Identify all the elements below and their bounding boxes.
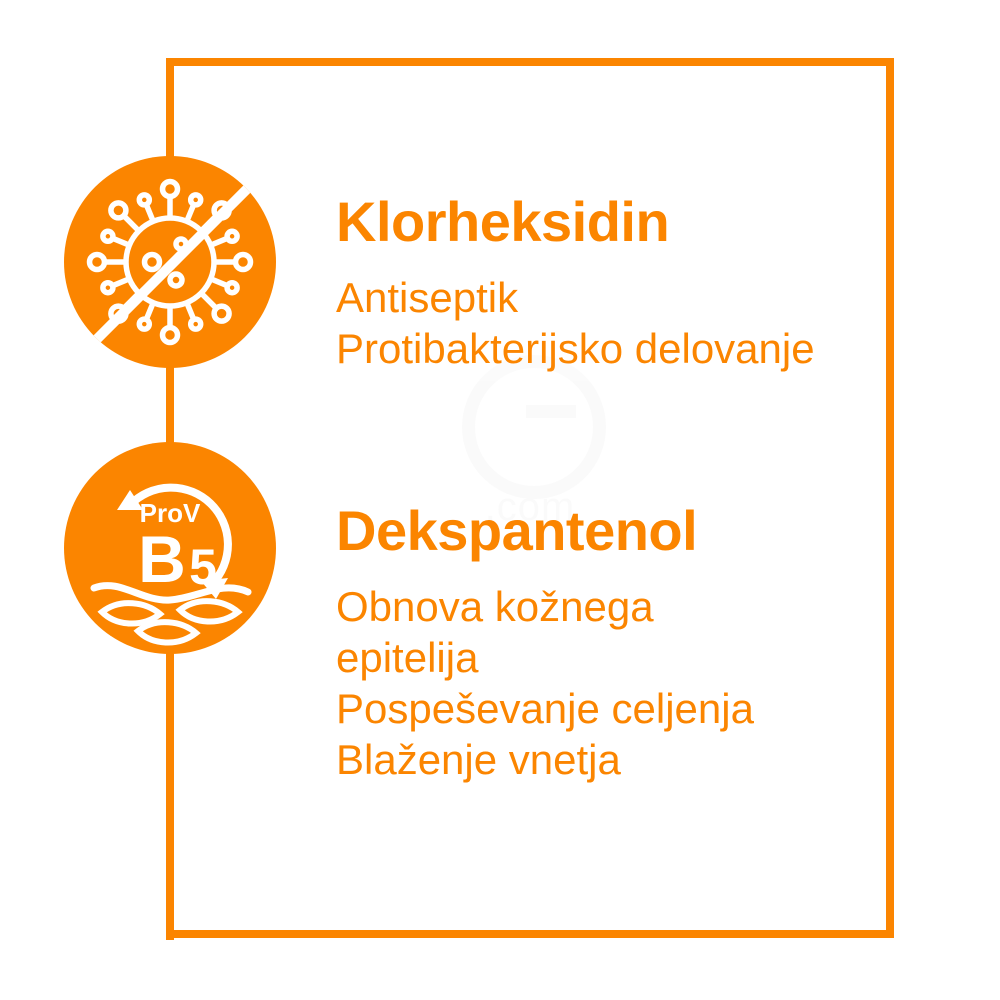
vitamin-b-letter: B — [138, 522, 186, 596]
skin-cell-layer — [102, 601, 238, 642]
benefit-line: epitelija — [336, 632, 936, 683]
infographic-canvas: .com — [0, 0, 1000, 1000]
benefit-line: Pospeševanje celjenja — [336, 683, 936, 734]
benefit-line: Protibakterijsko delovanje — [336, 323, 936, 374]
provitamin-b5-badge: ProV B 5 — [64, 442, 276, 654]
virus-blocked-badge — [64, 156, 276, 368]
benefit-line: Antiseptik — [336, 272, 936, 323]
ingredient-benefit-list: Antiseptik Protibakterijsko delovanje — [336, 272, 936, 374]
virus-blocked-icon — [64, 156, 276, 368]
benefit-line: Obnova kožnega — [336, 581, 936, 632]
ingredient-block-dekspantenol: Dekspantenol Obnova kožnega epitelija Po… — [336, 503, 936, 785]
provitamin-b5-skin-icon: ProV B 5 — [64, 442, 276, 654]
ingredient-benefit-list: Obnova kožnega epitelija Pospeševanje ce… — [336, 581, 936, 785]
ingredient-heading: Klorheksidin — [336, 194, 936, 250]
ingredient-block-klorheksidin: Klorheksidin Antiseptik Protibakterijsko… — [336, 194, 936, 374]
ingredient-heading: Dekspantenol — [336, 503, 936, 559]
benefit-line: Blaženje vnetja — [336, 734, 936, 785]
